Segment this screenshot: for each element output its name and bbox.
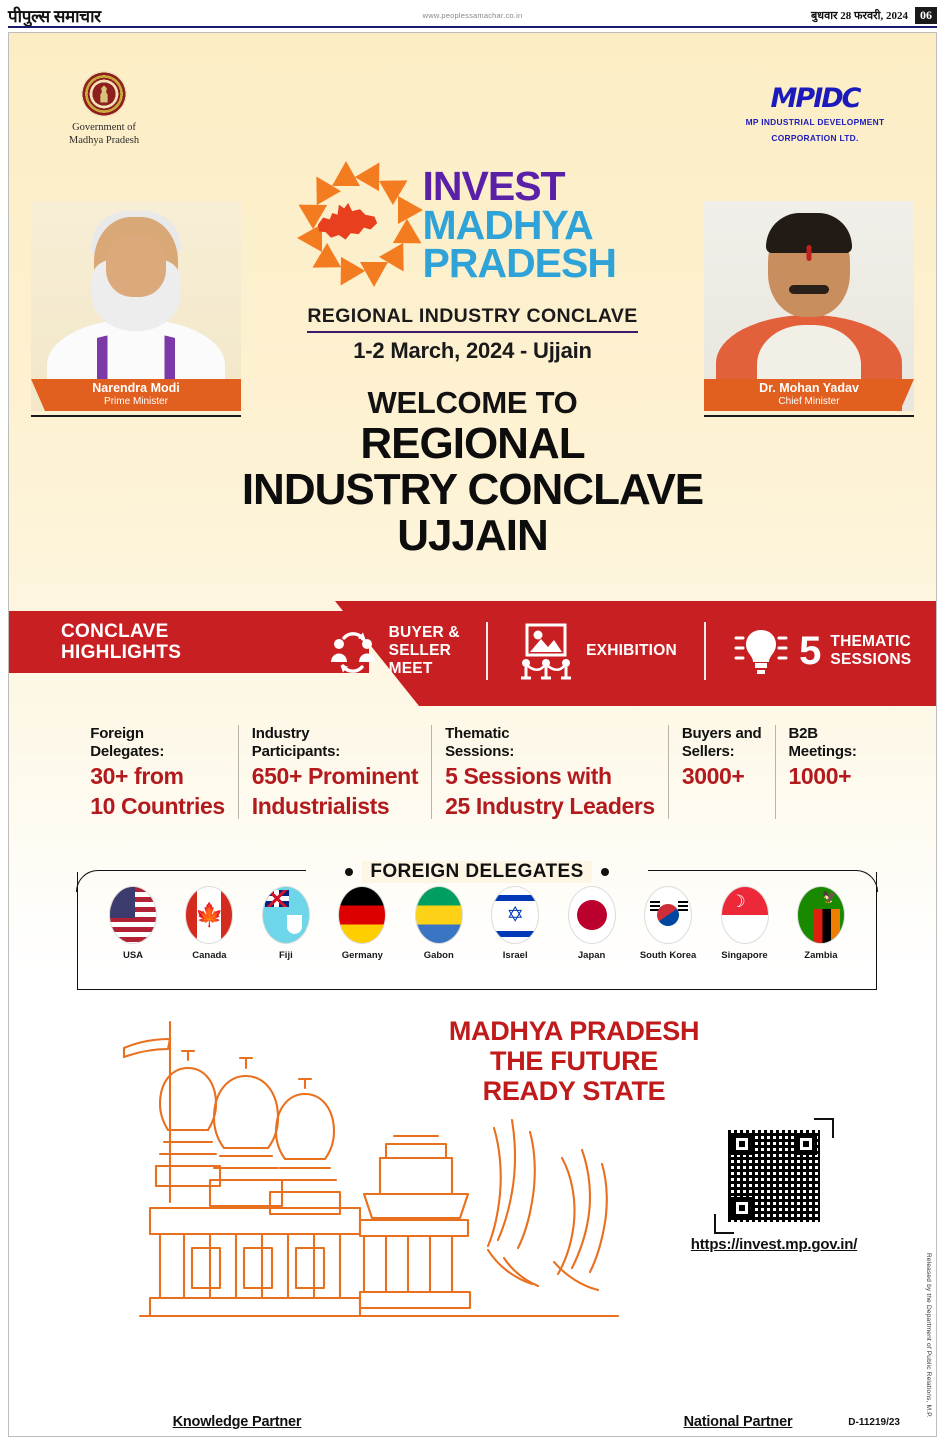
india-national-emblem-icon <box>81 71 127 117</box>
mpidc-wordmark: MPIDC <box>730 85 900 112</box>
invest-portal-url[interactable]: https://invest.mp.gov.in/ <box>674 1236 874 1253</box>
qr-finder-top-left <box>731 1133 753 1155</box>
stat-thematic-sessions: Thematic Sessions: 5 Sessions with 25 In… <box>431 725 668 819</box>
national-partner-title: National Partner <box>618 1414 858 1430</box>
stat-label-line1: Foreign <box>90 725 225 743</box>
flag-japan-icon <box>568 886 616 944</box>
stat-value-line1: 650+ Prominent <box>252 763 418 789</box>
brand-wordmark: INVEST MADHYA PRADESH <box>423 161 616 283</box>
country-gabon: Gabon <box>404 886 474 961</box>
newspaper-name: पीपुल्स समाचार <box>8 4 101 27</box>
welcome-line-1: REGIONAL <box>123 421 823 467</box>
portrait-mohan-yadav: Dr. Mohan Yadav Chief Minister <box>704 201 914 411</box>
conclave-subtitle-block: REGIONAL INDUSTRY CONCLAVE 1-2 March, 20… <box>258 305 688 364</box>
highlight-label-exhibition: EXHIBITION <box>586 642 677 660</box>
stat-label-line2: Participants: <box>252 743 418 761</box>
qr-corner-bracket-bottom-left <box>714 1214 734 1234</box>
buyer-seller-meet-icon <box>326 624 380 678</box>
country-south-korea: South Korea <box>633 886 703 961</box>
stat-label-line1: Thematic <box>445 725 655 743</box>
flag-singapore-icon <box>721 886 769 944</box>
portrait-narendra-modi: Narendra Modi Prime Minister <box>31 201 241 411</box>
government-label-line1: Government of <box>39 121 169 134</box>
country-name: Fiji <box>251 950 321 961</box>
country-name: Zambia <box>786 950 856 961</box>
conclave-subtitle: REGIONAL INDUSTRY CONCLAVE <box>307 305 637 333</box>
stat-value-line1: 5 Sessions with <box>445 763 655 789</box>
country-israel: Israel <box>480 886 550 961</box>
stat-value-line2: 10 Countries <box>90 793 225 819</box>
stat-buyers-sellers: Buyers and Sellers: 3000+ <box>668 725 775 819</box>
mpidc-logo-block: MPIDC MP INDUSTRIAL DEVELOPMENT CORPORAT… <box>730 85 900 144</box>
country-fiji: Fiji <box>251 886 321 961</box>
country-germany: Germany <box>327 886 397 961</box>
tagline-line-3: READY STATE <box>409 1076 739 1106</box>
qr-code-frame <box>728 1130 820 1222</box>
flag-fiji-icon <box>262 886 310 944</box>
stat-value-line1: 30+ from <box>90 763 225 789</box>
masthead-right-group: बुधवार 28 फरवरी, 2024 06 <box>811 7 937 24</box>
country-name: Japan <box>557 950 627 961</box>
flag-gabon-icon <box>415 886 463 944</box>
country-flag-list: USA Canada Fiji Germany <box>78 872 876 961</box>
highlight-line-1: EXHIBITION <box>586 642 677 660</box>
flag-canada-icon <box>185 886 233 944</box>
brand-word-pradesh: PRADESH <box>423 244 616 283</box>
country-name: Germany <box>327 950 397 961</box>
statistics-row: Foreign Delegates: 30+ from 10 Countries… <box>9 725 937 819</box>
tagline-line-2: THE FUTURE <box>409 1046 739 1076</box>
highlight-buyer-seller-meet: BUYER & SELLER MEET <box>326 624 460 678</box>
stat-b2b-meetings: B2B Meetings: 1000+ <box>775 725 870 819</box>
country-usa: USA <box>98 886 168 961</box>
edition-date: बुधवार 28 फरवरी, 2024 <box>811 8 908 23</box>
stat-value-line1: 3000+ <box>682 763 762 789</box>
released-by-note: Released by the Department of Public Rel… <box>925 1253 932 1418</box>
highlight-line-2: SESSIONS <box>830 651 911 669</box>
country-name: Israel <box>480 950 550 961</box>
country-canada: Canada <box>174 886 244 961</box>
foreign-delegates-section: FOREIGN DELEGATES USA Canada Fiji <box>77 861 877 990</box>
stat-foreign-delegates: Foreign Delegates: 30+ from 10 Countries <box>77 725 238 819</box>
page-number: 06 <box>915 7 937 24</box>
country-name: South Korea <box>633 950 703 961</box>
invest-madhya-pradesh-logo: INVEST MADHYA PRADESH <box>283 161 663 287</box>
tagline-block: MADHYA PRADESH THE FUTURE READY STATE <box>409 1016 739 1107</box>
highlight-exhibition: EXHIBITION <box>515 622 677 680</box>
flag-zambia-icon <box>797 886 845 944</box>
country-name: USA <box>98 950 168 961</box>
country-singapore: Singapore <box>710 886 780 961</box>
highlights-label-line1: CONCLAVE <box>61 621 291 642</box>
highlight-label-buyer-seller: BUYER & SELLER MEET <box>389 624 460 678</box>
mpidc-subtitle-line2: CORPORATION LTD. <box>730 133 900 144</box>
bullet-dot-icon <box>601 868 609 876</box>
highlights-divider <box>704 622 706 680</box>
bullet-dot-icon <box>345 868 353 876</box>
highlight-line-1: BUYER & <box>389 624 460 642</box>
flag-germany-icon <box>338 886 386 944</box>
qr-finder-bottom-left <box>731 1197 753 1219</box>
advertisement-frame: Government of Madhya Pradesh MPIDC MP IN… <box>8 32 937 1437</box>
country-japan: Japan <box>557 886 627 961</box>
highlight-line-2: SELLER <box>389 642 460 660</box>
flag-usa-icon <box>109 886 157 944</box>
ad-lower-section: MADHYA PRADESH THE FUTURE READY STATE ht… <box>9 998 936 1436</box>
stat-value-line1: 1000+ <box>789 763 857 789</box>
welcome-prefix: WELCOME TO <box>123 385 823 421</box>
stat-label-line2: Sessions: <box>445 743 655 761</box>
qr-corner-bracket-top-right <box>814 1118 834 1138</box>
highlight-line-1: THEMATIC <box>830 633 911 651</box>
ad-upper-section: Government of Madhya Pradesh MPIDC MP IN… <box>9 33 936 998</box>
highlight-line-3: MEET <box>389 660 460 678</box>
welcome-line-3: UJJAIN <box>123 513 823 559</box>
newspaper-website: www.peoplessamachar.co.in <box>423 11 523 20</box>
conclave-dateline: 1-2 March, 2024 - Ujjain <box>258 338 688 364</box>
highlights-label-text: CONCLAVE HIGHLIGHTS <box>61 621 291 664</box>
qr-code-block: https://invest.mp.gov.in/ <box>674 1130 874 1253</box>
tagline-line-1: MADHYA PRADESH <box>409 1016 739 1046</box>
qr-code-icon[interactable] <box>728 1130 820 1222</box>
brand-word-madhya: MADHYA <box>423 206 616 245</box>
newspaper-masthead: पीपुल्स समाचार www.peoplessamachar.co.in… <box>0 0 945 30</box>
highlights-item-list: BUYER & SELLER MEET <box>299 601 937 701</box>
stat-label-line2: Delegates: <box>90 743 225 761</box>
sun-burst-map-icon <box>283 161 409 287</box>
highlight-thematic-sessions: 5 THEMATIC SESSIONS <box>732 622 911 680</box>
stat-industry-participants: Industry Participants: 650+ Prominent In… <box>238 725 431 819</box>
government-label-line2: Madhya Pradesh <box>39 134 169 147</box>
conclave-highlights-band: CONCLAVE HIGHLIGHTS <box>9 601 937 706</box>
highlights-divider <box>486 622 488 680</box>
mpidc-subtitle-line1: MP INDUSTRIAL DEVELOPMENT <box>730 117 900 128</box>
country-name: Canada <box>174 950 244 961</box>
welcome-heading-block: WELCOME TO REGIONAL INDUSTRY CONCLAVE UJ… <box>123 385 823 558</box>
country-name: Singapore <box>710 950 780 961</box>
highlights-label-line2: HIGHLIGHTS <box>61 642 291 663</box>
knowledge-partner-title: Knowledge Partner <box>117 1414 357 1430</box>
document-reference-number: D-11219/23 <box>848 1417 900 1428</box>
stat-label-line1: Industry <box>252 725 418 743</box>
highlight-label-thematic: THEMATIC SESSIONS <box>830 633 911 669</box>
foreign-delegates-box: USA Canada Fiji Germany <box>77 872 877 990</box>
country-name: Gabon <box>404 950 474 961</box>
national-partner-block: National Partner CII Confederation of In… <box>618 1414 858 1437</box>
stat-label-line2: Sellers: <box>682 743 762 761</box>
exhibition-icon <box>515 622 577 680</box>
lightbulb-icon <box>732 622 790 680</box>
foreign-delegates-title: FOREIGN DELEGATES <box>362 861 591 883</box>
stat-label-line1: B2B <box>789 725 857 743</box>
government-of-mp-block: Government of Madhya Pradesh <box>39 71 169 147</box>
country-zambia: Zambia <box>786 886 856 961</box>
flag-israel-icon <box>491 886 539 944</box>
brand-word-invest: INVEST <box>423 167 616 206</box>
foreign-delegates-title-row: FOREIGN DELEGATES <box>77 861 877 883</box>
stat-label-line2: Meetings: <box>789 743 857 761</box>
thematic-sessions-count: 5 <box>799 633 821 669</box>
welcome-line-2: INDUSTRY CONCLAVE <box>123 467 823 513</box>
stat-value-line2: 25 Industry Leaders <box>445 793 655 819</box>
flag-south-korea-icon <box>644 886 692 944</box>
stat-label-line1: Buyers and <box>682 725 762 743</box>
knowledge-partner-block: Knowledge Partner EY Building a better w… <box>117 1414 357 1437</box>
stat-value-line2: Industrialists <box>252 793 418 819</box>
